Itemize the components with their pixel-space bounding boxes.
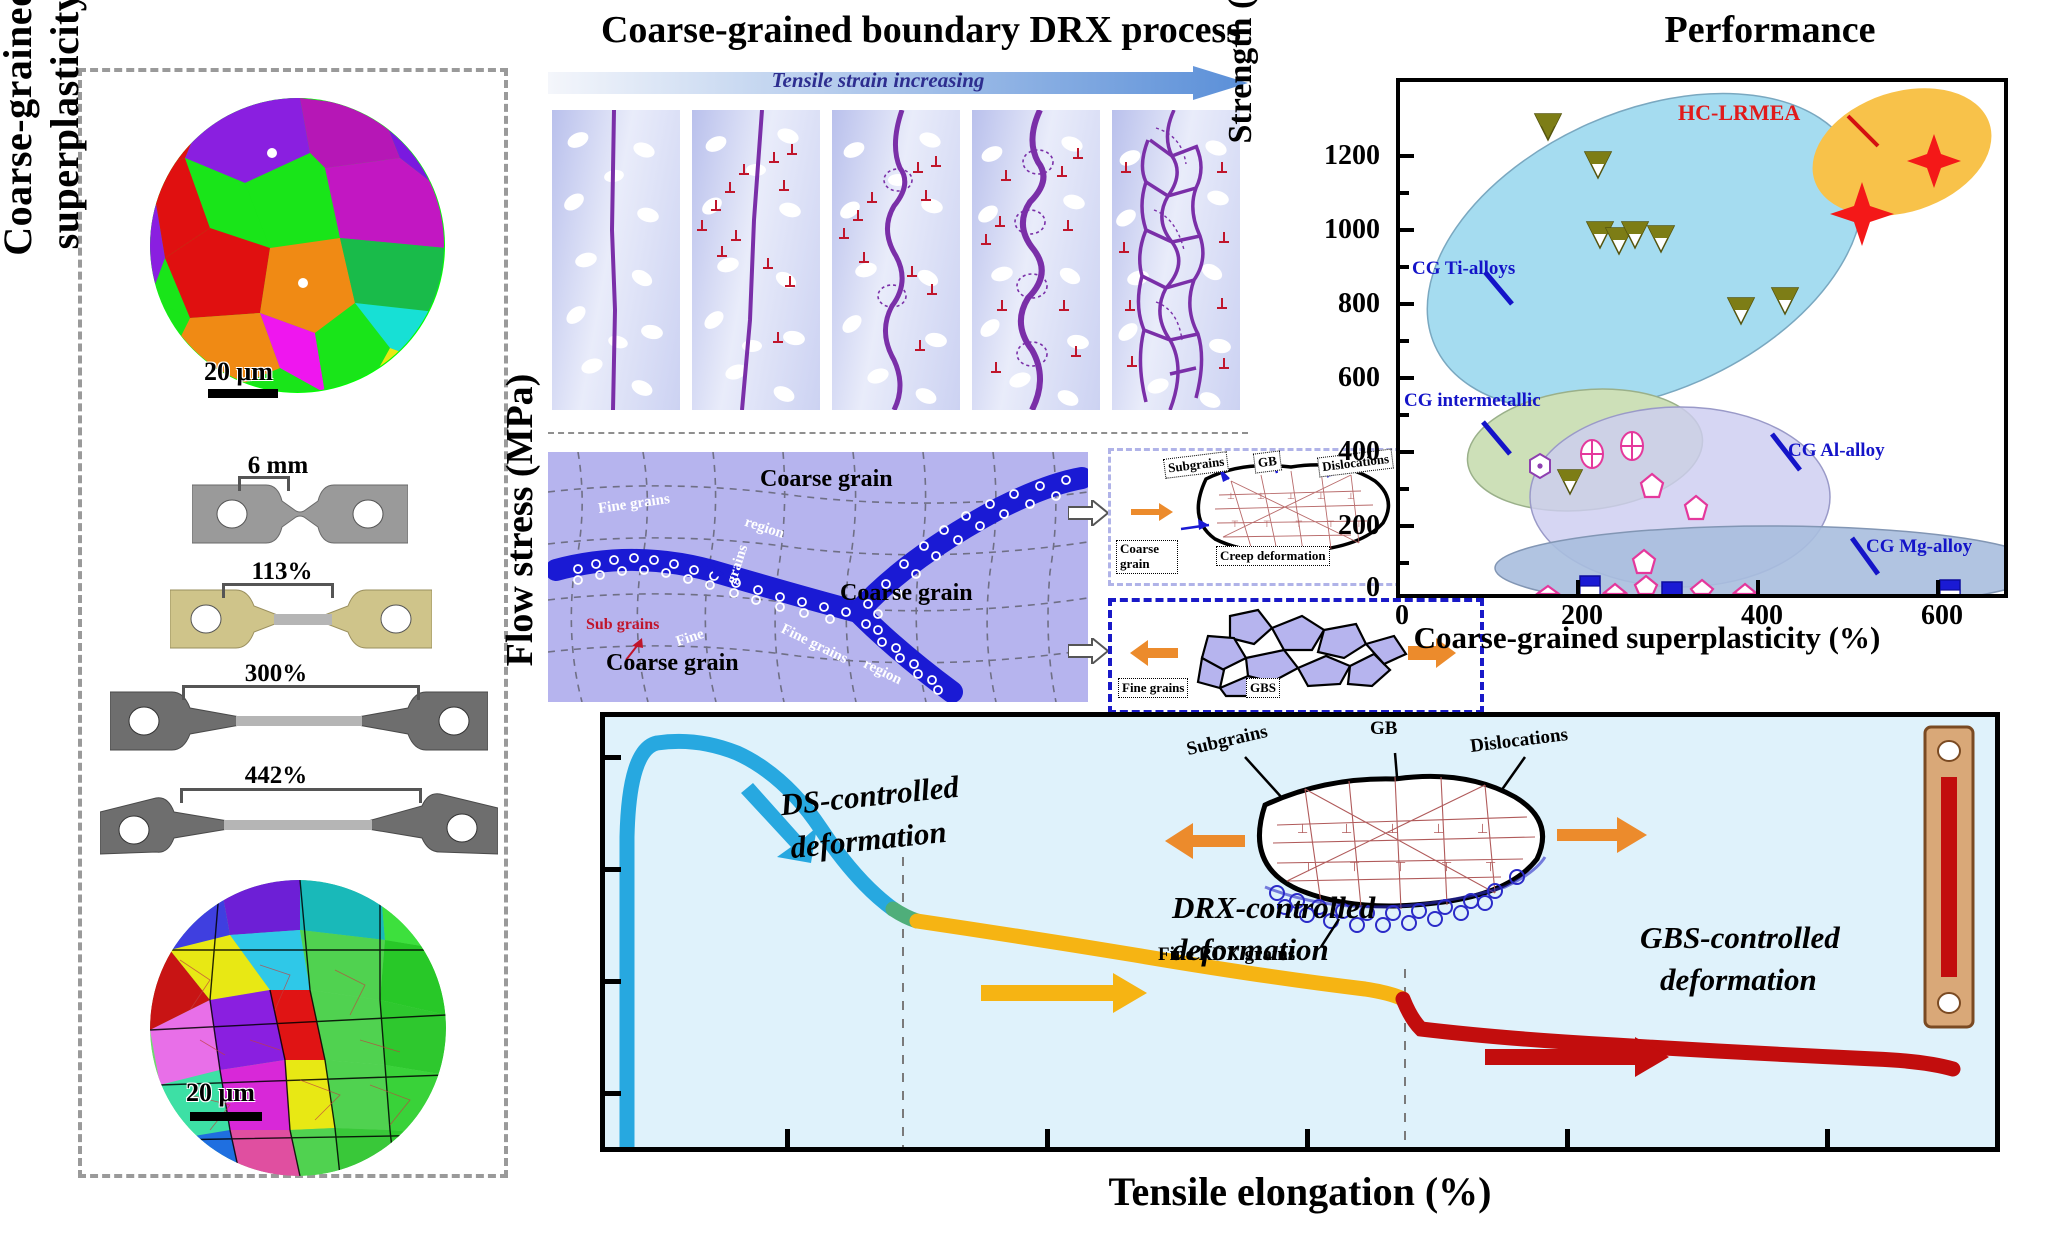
svg-text:⊥: ⊥ <box>1433 822 1444 837</box>
specimen-2-gauge <box>182 685 420 700</box>
specimen-label-1: 113% <box>212 558 352 586</box>
perf-ytick-1200: 1200 <box>1300 140 1380 172</box>
perf-ytick-400: 400 <box>1300 436 1380 468</box>
svg-text:⊤: ⊤ <box>1485 860 1496 875</box>
coarse-grain-label-0: Coarse grain <box>760 466 893 493</box>
coarse-grain-label-1: Coarse grain <box>840 580 973 607</box>
creep-deformation-label: Creep deformation <box>1216 546 1330 566</box>
perf-xtick-600: 600 <box>1902 600 1982 632</box>
perf-xtick-400: 400 <box>1722 600 1802 632</box>
label-cg-intermetallic: CG intermetallic <box>1404 390 1541 412</box>
scale-bar-bottom-label: 20 μm <box>186 1078 255 1108</box>
drx-process-title: Coarse-grained boundary DRX process <box>512 8 1330 52</box>
ebsd-map-deformed <box>150 880 446 1176</box>
svg-text:⊤: ⊤ <box>1263 519 1271 529</box>
flow-chart-y-axis-label: Flow stress (MPa) <box>498 310 542 730</box>
svg-text:⊥: ⊥ <box>1227 491 1235 501</box>
drx-stage-1 <box>552 110 680 410</box>
perf-ytick-200: 200 <box>1300 510 1380 542</box>
coarse-grain-label-2: Coarse grain <box>606 650 739 677</box>
inset-fine-rdx-label: Fine RDX grains <box>1158 944 1295 966</box>
left-panel-title: Coarse-grained superplasticity <box>0 0 88 330</box>
svg-text:⊥: ⊥ <box>1317 491 1325 501</box>
svg-text:⊤: ⊤ <box>1303 860 1314 875</box>
label-cg-mg: CG Mg-alloy <box>1866 536 1972 558</box>
drx-stage-4 <box>972 110 1100 410</box>
marker-hexagon <box>1530 454 1550 478</box>
gbs-annotation-line2: deformation <box>1660 962 1817 998</box>
coarse-grain-label-creep: Coarse grain <box>1116 540 1178 574</box>
svg-text:⊤: ⊤ <box>1395 860 1406 875</box>
specimen-1-gauge <box>222 583 334 598</box>
specimen-3-gauge <box>180 788 422 803</box>
specimen-0-gauge <box>238 476 290 491</box>
label-cg-al: CG Al-alloy <box>1788 440 1885 462</box>
gb-label-creep: GB <box>1253 450 1282 473</box>
label-cg-ti: CG Ti-alloys <box>1412 258 1515 280</box>
performance-chart <box>1396 78 2008 598</box>
arrow-to-gbs-box <box>1068 638 1108 664</box>
svg-text:⊤: ⊤ <box>1349 860 1360 875</box>
tensile-strain-arrow-label: Tensile strain increasing <box>548 68 1208 93</box>
svg-text:⊥: ⊥ <box>1477 822 1488 837</box>
performance-plot-svg <box>1400 82 2004 594</box>
drx-stage-5 <box>1112 110 1240 410</box>
flow-chart-x-axis-label: Tensile elongation (%) <box>600 1168 2000 1215</box>
ebsd-coarse-svg <box>150 98 445 393</box>
scale-bar-top-label: 20 μm <box>204 357 273 387</box>
gbs-label: GBS <box>1246 678 1280 698</box>
specimen-0 <box>192 483 408 545</box>
gbs-annotation-line1: GBS-controlled <box>1640 920 1840 956</box>
svg-text:⊥: ⊥ <box>1347 491 1355 501</box>
perf-xtick-200: 200 <box>1542 600 1622 632</box>
perf-ytick-800: 800 <box>1300 288 1380 320</box>
inset-tensile-specimen <box>1925 727 1973 1027</box>
svg-text:⊥: ⊥ <box>1387 822 1398 837</box>
drx-stage-2 <box>692 110 820 410</box>
svg-text:⊥: ⊥ <box>1287 491 1295 501</box>
drx-section-divider <box>548 432 1248 434</box>
svg-text:⊤: ⊤ <box>1441 860 1452 875</box>
performance-y-axis-label: Strength (MPa) <box>1222 0 1260 200</box>
perf-xtick-0: 0 <box>1362 600 1442 632</box>
perf-ytick-600: 600 <box>1300 362 1380 394</box>
performance-title: Performance <box>1560 8 1980 52</box>
drx-annotation-line1: DRX-controlled <box>1172 890 1375 926</box>
inset-gb-label: GB <box>1370 718 1397 740</box>
drx-stage-3 <box>832 110 960 410</box>
ebsd-deformed-svg <box>150 880 446 1176</box>
svg-text:⊥: ⊥ <box>1257 491 1265 501</box>
ebsd-map-coarse <box>150 98 445 393</box>
scale-bar-top-line <box>208 389 278 398</box>
svg-text:⊥: ⊥ <box>1297 822 1308 837</box>
svg-text:⊥: ⊥ <box>1341 822 1352 837</box>
specimen-label-2: 300% <box>196 660 356 688</box>
perf-y-ticks <box>1400 154 1414 565</box>
label-hc-lrmea: HC-LRMEA <box>1678 100 1800 126</box>
fine-grains-label-gbs: Fine grains <box>1118 678 1188 698</box>
specimen-label-3: 442% <box>196 762 356 790</box>
scale-bar-bottom-line <box>190 1112 262 1121</box>
perf-ytick-1000: 1000 <box>1300 214 1380 246</box>
svg-text:⊤: ⊤ <box>1231 519 1239 529</box>
arrow-to-creep-box <box>1068 500 1108 526</box>
sub-grains-label: Sub grains <box>586 616 659 634</box>
